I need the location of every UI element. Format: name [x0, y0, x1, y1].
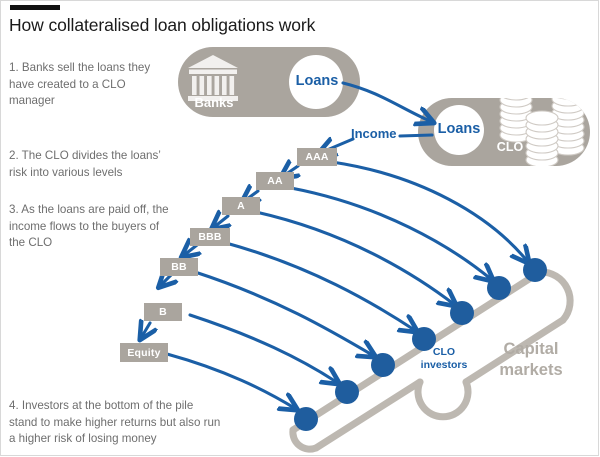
cm-edge-bottom-left: [316, 382, 420, 448]
cm-cap-right: [540, 272, 570, 320]
investor-dot-6: [487, 276, 511, 300]
arrow-bb-to-dot3: [195, 272, 374, 356]
clo-investors-label: CLO investors: [408, 346, 480, 371]
infographic-canvas: How collateralised loan obligations work…: [0, 0, 600, 457]
banks-label: Banks: [188, 95, 240, 110]
tranche-b[interactable]: B: [144, 303, 182, 321]
capital-markets-line2: markets: [499, 361, 562, 379]
tranche-a[interactable]: A: [222, 197, 260, 215]
line-income-stub: [400, 135, 432, 136]
clo-investors-line2: investors: [421, 359, 468, 371]
capital-markets-label: Capital markets: [483, 339, 579, 381]
arrow-a-to-dot5: [256, 212, 455, 305]
arrow-bbb-to-dot4: [226, 243, 416, 331]
investor-dot-7: [523, 258, 547, 282]
arrow-b-to-dot2: [190, 315, 338, 383]
capital-markets-line1: Capital: [503, 340, 558, 358]
income-label: Income: [351, 126, 397, 141]
clo-label: CLO: [490, 140, 530, 154]
diagram-svg-layer: [0, 0, 600, 457]
arrow-b-to-equity: [141, 323, 150, 338]
investor-dot-1: [294, 407, 318, 431]
tranche-aaa[interactable]: AAA: [297, 148, 337, 166]
arrow-bbb-to-bb: [183, 245, 197, 256]
tranche-bb[interactable]: BB: [160, 258, 198, 276]
arrow-equity-to-dot1: [167, 354, 296, 409]
tranche-bbb[interactable]: BBB: [190, 228, 230, 246]
arrow-aa-to-dot6: [291, 188, 492, 280]
clo-investors-line1: CLO: [433, 346, 455, 358]
investor-dot-5: [450, 301, 474, 325]
cm-investors-notch: [418, 382, 468, 417]
banks-loans-label: Loans: [291, 73, 343, 89]
arrow-a-to-bbb: [213, 216, 228, 228]
tranche-aa[interactable]: AA: [256, 172, 294, 190]
investor-dot-2: [335, 380, 359, 404]
clo-loans-label: Loans: [433, 121, 485, 137]
cm-cap-left: [293, 430, 316, 449]
tranche-equity[interactable]: Equity: [120, 343, 168, 362]
investor-dot-3: [371, 353, 395, 377]
